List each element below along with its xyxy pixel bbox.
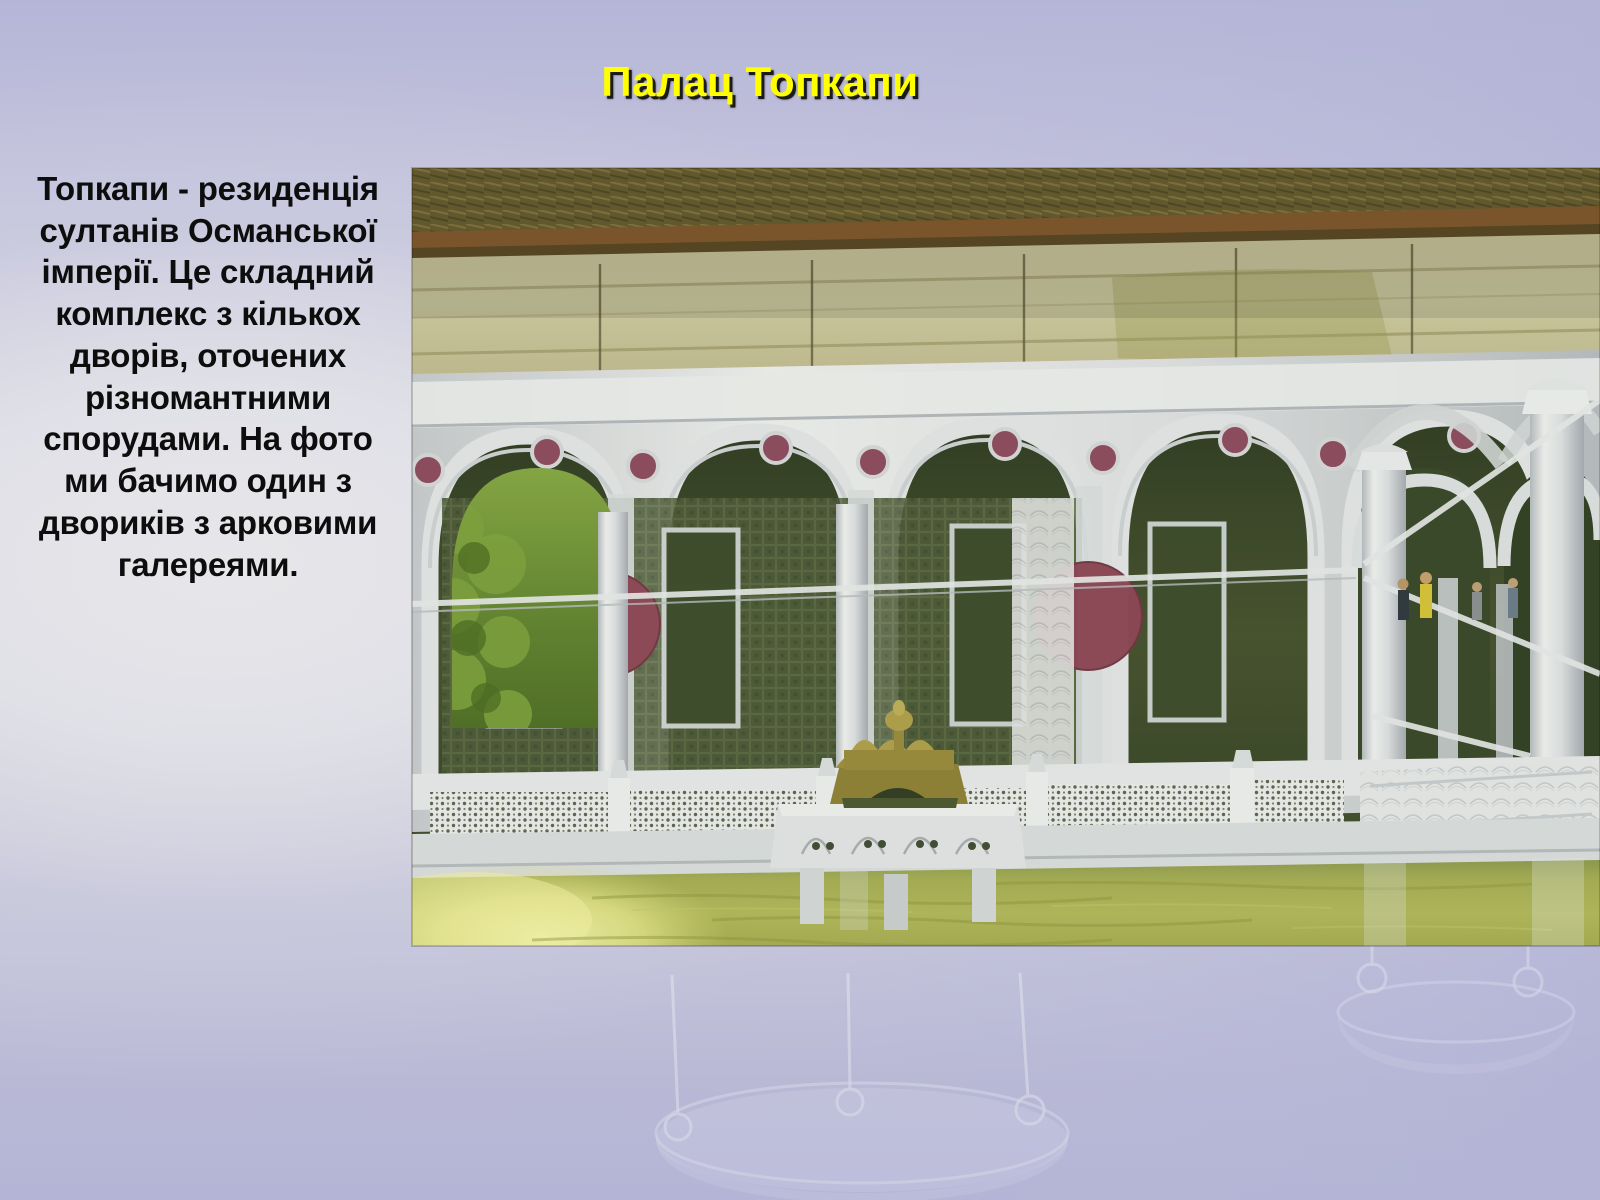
presentation-slide: Палац Топкапи Топкапи - резиденція султа…	[0, 0, 1600, 1200]
topkapi-courtyard-illustration	[412, 168, 1600, 946]
slide-body-text: Топкапи - резиденція султанів Османської…	[18, 168, 398, 585]
topkapi-courtyard-photo	[412, 168, 1600, 946]
slide-title: Палац Топкапи	[0, 58, 1520, 106]
